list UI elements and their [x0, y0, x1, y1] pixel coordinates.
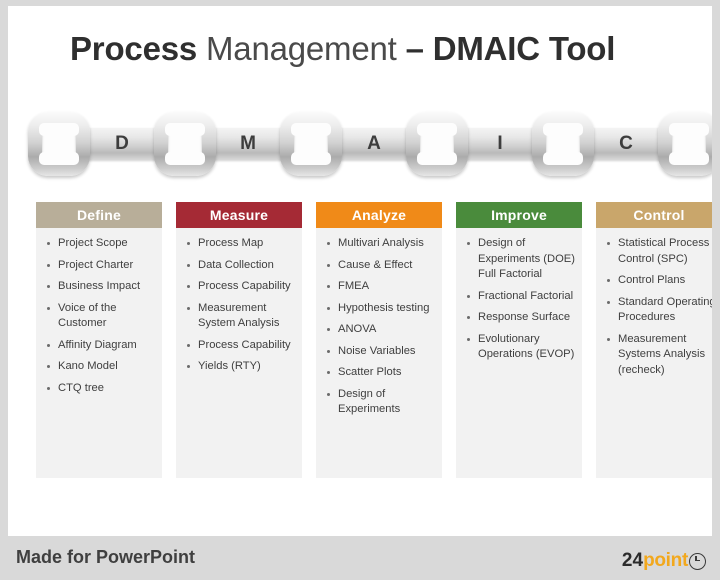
list-item[interactable]: Multivari Analysis [324, 236, 438, 252]
list-item[interactable]: Noise Variables [324, 344, 438, 360]
column-header-measure[interactable]: Measure [176, 202, 302, 228]
list-item[interactable]: Process Capability [184, 279, 298, 295]
chain-link-hole [294, 123, 328, 165]
column-list-define: Project ScopeProject CharterBusiness Imp… [40, 236, 158, 396]
column-body-define: Project ScopeProject CharterBusiness Imp… [36, 228, 162, 478]
chain-link [532, 112, 594, 176]
column-header-define[interactable]: Define [36, 202, 162, 228]
list-item[interactable]: Process Map [184, 236, 298, 252]
column-body-analyze: Multivari AnalysisCause & EffectFMEAHypo… [316, 228, 442, 478]
made-for-powerpoint-label: Made for PowerPoint [16, 547, 195, 568]
chain-link-hole [420, 123, 454, 165]
column-body-measure: Process MapData CollectionProcess Capabi… [176, 228, 302, 478]
brand-logo-number: 24 [622, 550, 643, 571]
list-item[interactable]: FMEA [324, 279, 438, 295]
slide-frame: Process Management – DMAIC Tool DMAIC De… [0, 0, 720, 580]
column-list-control: Statistical Process Control (SPC)Control… [600, 236, 712, 378]
column-list-analyze: Multivari AnalysisCause & EffectFMEAHypo… [320, 236, 438, 418]
page-title: Process Management – DMAIC Tool [70, 26, 690, 74]
list-item[interactable]: Project Charter [44, 258, 158, 274]
chain-link [28, 112, 90, 176]
chain-link [406, 112, 468, 176]
dmaic-column-analyze: AnalyzeMultivari AnalysisCause & EffectF… [316, 202, 442, 478]
clock-icon [689, 553, 706, 570]
page-title-part1: Process [70, 30, 206, 67]
column-header-improve[interactable]: Improve [456, 202, 582, 228]
page-title-part2: Management [206, 30, 406, 67]
list-item[interactable]: Affinity Diagram [44, 338, 158, 354]
list-item[interactable]: Project Scope [44, 236, 158, 252]
list-item[interactable]: Business Impact [44, 279, 158, 295]
list-item[interactable]: Scatter Plots [324, 365, 438, 381]
dmaic-columns: DefineProject ScopeProject CharterBusine… [36, 202, 700, 487]
list-item[interactable]: Design of Experiments [324, 387, 438, 418]
list-item[interactable]: Standard Operating Procedures [604, 295, 712, 326]
column-body-control: Statistical Process Control (SPC)Control… [596, 228, 712, 478]
dmaic-column-control: ControlStatistical Process Control (SPC)… [596, 202, 712, 478]
list-item[interactable]: Fractional Factorial [464, 289, 578, 305]
dmaic-column-measure: MeasureProcess MapData CollectionProcess… [176, 202, 302, 478]
dmaic-column-define: DefineProject ScopeProject CharterBusine… [36, 202, 162, 478]
list-item[interactable]: Measurement System Analysis [184, 301, 298, 332]
chain-link [280, 112, 342, 176]
list-item[interactable]: Measurement Systems Analysis (recheck) [604, 332, 712, 379]
chain-link-hole [42, 123, 76, 165]
list-item[interactable]: Evolutionary Operations (EVOP) [464, 332, 578, 363]
list-item[interactable]: Design of Experiments (DOE) Full Factori… [464, 236, 578, 283]
chain-link-hole [546, 123, 580, 165]
list-item[interactable]: Process Capability [184, 338, 298, 354]
list-item[interactable]: Hypothesis testing [324, 301, 438, 317]
list-item[interactable]: Cause & Effect [324, 258, 438, 274]
list-item[interactable]: Statistical Process Control (SPC) [604, 236, 712, 267]
column-header-analyze[interactable]: Analyze [316, 202, 442, 228]
column-list-measure: Process MapData CollectionProcess Capabi… [180, 236, 298, 375]
list-item[interactable]: Yields (RTY) [184, 359, 298, 375]
dmaic-column-improve: ImproveDesign of Experiments (DOE) Full … [456, 202, 582, 478]
dmaic-chain-graphic: DMAIC [28, 106, 698, 182]
list-item[interactable]: CTQ tree [44, 381, 158, 397]
list-item[interactable]: Response Surface [464, 310, 578, 326]
column-header-control[interactable]: Control [596, 202, 712, 228]
list-item[interactable]: Kano Model [44, 359, 158, 375]
list-item[interactable]: ANOVA [324, 322, 438, 338]
chain-link [154, 112, 216, 176]
footer-bar: Made for PowerPoint 24point [0, 540, 720, 580]
list-item[interactable]: Voice of the Customer [44, 301, 158, 332]
chain-link-hole [672, 123, 706, 165]
chain-link [658, 112, 712, 176]
brand-logo-word: point [643, 550, 688, 571]
list-item[interactable]: Data Collection [184, 258, 298, 274]
slide-canvas: Process Management – DMAIC Tool DMAIC De… [8, 6, 712, 536]
brand-logo[interactable]: 24point [622, 550, 706, 572]
column-body-improve: Design of Experiments (DOE) Full Factori… [456, 228, 582, 478]
page-title-part3: – DMAIC Tool [406, 30, 616, 67]
list-item[interactable]: Control Plans [604, 273, 712, 289]
chain-link-hole [168, 123, 202, 165]
column-list-improve: Design of Experiments (DOE) Full Factori… [460, 236, 578, 363]
